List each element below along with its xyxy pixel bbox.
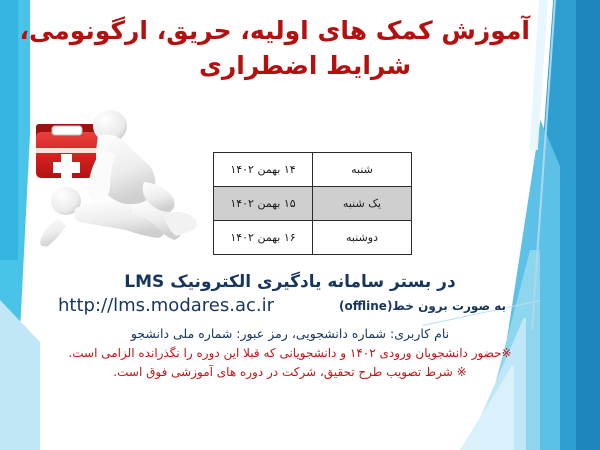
table-row: شنبه ۱۴ بهمن ۱۴۰۲: [214, 153, 412, 187]
slide-body: در بستر سامانه یادگیری الکترونیک LMS به …: [36, 272, 544, 381]
title-line-2: شرایط اضطراری: [80, 49, 530, 84]
schedule-table-container: شنبه ۱۴ بهمن ۱۴۰۲ یک شنبه ۱۵ بهمن ۱۴۰۲ د…: [213, 152, 412, 255]
schedule-date-cell: ۱۶ بهمن ۱۴۰۲: [214, 221, 313, 255]
schedule-table: شنبه ۱۴ بهمن ۱۴۰۲ یک شنبه ۱۵ بهمن ۱۴۰۲ د…: [213, 152, 412, 255]
table-row: دوشنبه ۱۶ بهمن ۱۴۰۲: [214, 221, 412, 255]
first-aid-kit-icon: [36, 124, 98, 182]
right-facet-dark-top: [538, 0, 600, 200]
url-row: به صورت برون خط(offline) http://lms.moda…: [36, 295, 544, 323]
rescuer-figure: [88, 110, 175, 212]
title-line-1: آموزش کمک های اولیه، حریق، ارگونومی،: [80, 14, 530, 49]
lms-url-link[interactable]: http://lms.modares.ac.ir: [58, 295, 274, 316]
slide-title: آموزش کمک های اولیه، حریق، ارگونومی، شرا…: [80, 14, 530, 83]
schedule-day-cell: یک شنبه: [313, 187, 412, 221]
slide-canvas: آموزش کمک های اولیه، حریق، ارگونومی، شرا…: [0, 0, 600, 450]
platform-line: در بستر سامانه یادگیری الکترونیک LMS: [36, 272, 544, 293]
first-aid-cpr-illustration: [14, 96, 210, 256]
note-line-1: ※حضور دانشجویان ورودی ۱۴۰۲ و دانشجویانی …: [36, 344, 544, 363]
table-row: یک شنبه ۱۵ بهمن ۱۴۰۲: [214, 187, 412, 221]
schedule-date-cell: ۱۵ بهمن ۱۴۰۲: [214, 187, 313, 221]
right-facet-dark-edge: [560, 0, 600, 450]
note-line-2: ※ شرط تصویب طرح تحقیق، شرکت در دوره های …: [36, 363, 544, 382]
schedule-date-cell: ۱۴ بهمن ۱۴۰۲: [214, 153, 313, 187]
offline-note: به صورت برون خط(offline): [339, 299, 506, 313]
left-pale-facet: [0, 300, 40, 450]
schedule-day-cell: شنبه: [313, 153, 412, 187]
schedule-table-body: شنبه ۱۴ بهمن ۱۴۰۲ یک شنبه ۱۵ بهمن ۱۴۰۲ د…: [214, 153, 412, 255]
cpr-scene-svg: [14, 96, 210, 256]
credentials-line: نام کاربری: شماره دانشجویی، رمز عبور: شم…: [36, 325, 544, 344]
schedule-day-cell: دوشنبه: [313, 221, 412, 255]
